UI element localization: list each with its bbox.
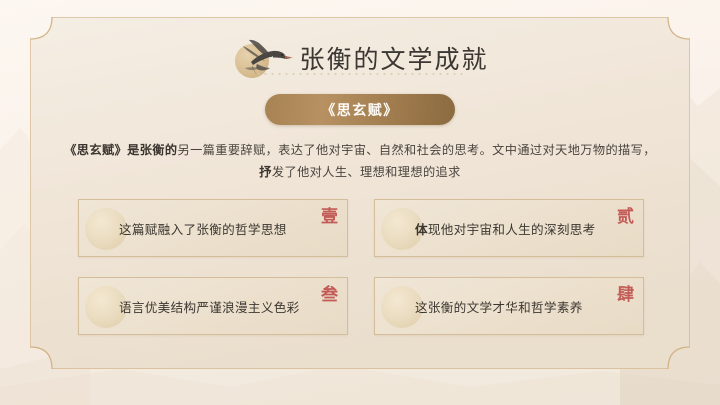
point-card-4[interactable]: 肆 这张衡的文学才华和哲学素养 <box>374 277 644 335</box>
card-text-1-rest: 这篇赋融入了张衡的哲学思想 <box>119 219 287 238</box>
points-grid: 壹 这篇赋融入了张衡的哲学思想 贰 体现他对宇宙和人生的深刻思考 叁 语言优美结… <box>78 199 644 335</box>
crane-icon <box>233 32 295 84</box>
point-card-1[interactable]: 壹 这篇赋融入了张衡的哲学思想 <box>78 199 348 257</box>
subtitle-badge-label: 《思玄赋》 <box>321 100 399 120</box>
crane-badge <box>231 32 295 84</box>
point-card-2[interactable]: 贰 体现他对宇宙和人生的深刻思考 <box>374 199 644 257</box>
page-title: 张衡的文学成就 <box>299 40 488 76</box>
card-text-2: 体现他对宇宙和人生的深刻思考 <box>415 200 635 256</box>
body-paragraph: 《思玄赋》是张衡的另一篇重要辞赋，表达了他对宇宙、自然和社会的思考。文中通过对天… <box>52 139 668 183</box>
card-text-4: 这张衡的文学才华和哲学素养 <box>415 278 635 334</box>
card-text-2-rest: 现他对宇宙和人生的深刻思考 <box>428 219 596 238</box>
card-text-4-rest: 这张衡的文学才华和哲学素养 <box>415 297 583 316</box>
point-card-3[interactable]: 叁 语言优美结构严谨浪漫主义色彩 <box>78 277 348 335</box>
slide-header: 张衡的文学成就 <box>30 29 690 87</box>
content-panel: 张衡的文学成就 《思玄赋》 《思玄赋》是张衡的另一篇重要辞赋，表达了他对宇宙、自… <box>30 17 690 369</box>
slide-canvas: 张衡的文学成就 《思玄赋》 《思玄赋》是张衡的另一篇重要辞赋，表达了他对宇宙、自… <box>0 0 720 405</box>
card-text-3: 语言优美结构严谨浪漫主义色彩 <box>119 278 339 334</box>
paragraph-line1-rest: 另一篇重要辞赋，表达了他对宇宙、自然和社会的思考。文中通过对天地万物的描写， <box>177 143 655 157</box>
paragraph-line2-bold: 抒 <box>259 165 272 179</box>
subtitle-badge[interactable]: 《思玄赋》 <box>265 94 455 125</box>
paragraph-line1-bold: 《思玄赋》是张衡的 <box>64 143 177 157</box>
card-text-1: 这篇赋融入了张衡的哲学思想 <box>119 200 339 256</box>
card-text-2-bold: 体 <box>415 219 428 238</box>
paragraph-line2-rest: 发了他对人生、理想和理想的追求 <box>272 165 461 179</box>
card-text-3-rest: 语言优美结构严谨浪漫主义色彩 <box>119 297 300 316</box>
title-underline-dots <box>255 73 465 75</box>
